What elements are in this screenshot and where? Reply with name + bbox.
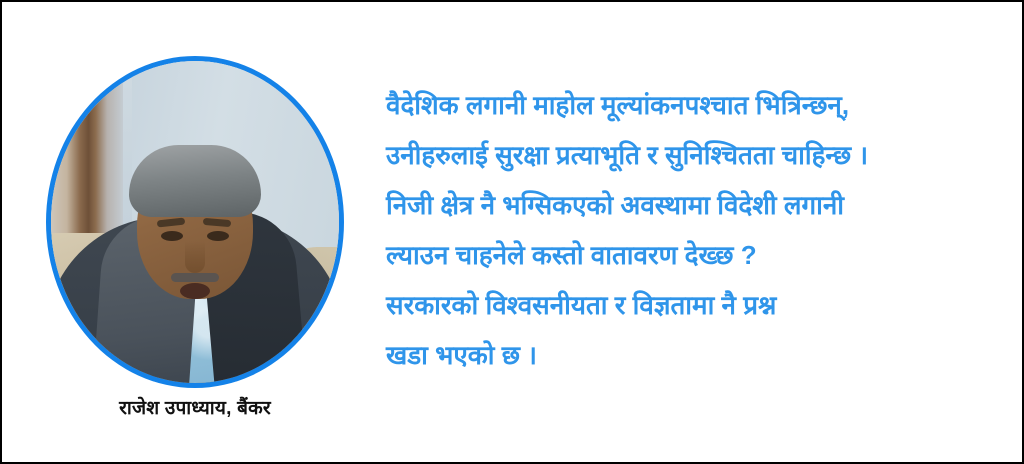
photo-mustache bbox=[171, 273, 219, 282]
quote-line: ल्याउन चाहनेले कस्तो वातावरण देख्छ ? bbox=[386, 230, 1010, 280]
quote-line: खडा भएको छ । bbox=[386, 330, 1010, 380]
quote-line: वैदेशिक लगानी माहोल मूल्यांकनपश्चात भित्… bbox=[386, 80, 1010, 130]
photo-eye-right bbox=[207, 231, 229, 241]
photo-eye-left bbox=[161, 231, 183, 241]
quote-line: निजी क्षेत्र नै भग्सिकएको अवस्थामा विदेश… bbox=[386, 180, 1010, 230]
quote-text: वैदेशिक लगानी माहोल मूल्यांकनपश्चात भित्… bbox=[386, 80, 1010, 380]
portrait-image bbox=[51, 61, 339, 383]
quote-card: राजेश उपाध्याय, बैंकर वैदेशिक लगानी माहो… bbox=[0, 0, 1024, 464]
photo-hair bbox=[129, 145, 261, 217]
portrait-photo bbox=[46, 56, 344, 388]
portrait-ring-border bbox=[46, 56, 344, 388]
quote-line: उनीहरुलाई सुरक्षा प्रत्याभूति र सुनिश्चि… bbox=[386, 130, 1010, 180]
photo-nose bbox=[185, 241, 205, 273]
photo-mouth bbox=[180, 283, 210, 299]
portrait-caption: राजेश उपाध्याय, बैंकर bbox=[46, 398, 344, 421]
quote-line: सरकारको विश्वसनीयता र विज्ञतामा नै प्रश्… bbox=[386, 280, 1010, 330]
